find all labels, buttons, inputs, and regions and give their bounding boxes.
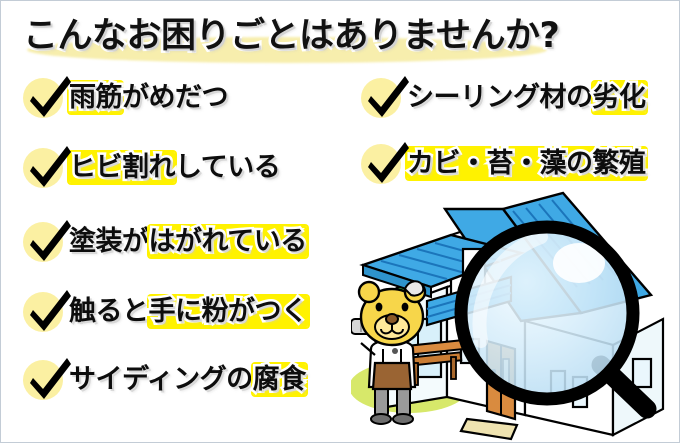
- checklist-item-6-text: シーリング材の劣化: [407, 76, 646, 120]
- highlighted-phrase: 雨筋: [69, 82, 122, 113]
- checklist-item-2: ヒビ割れしている: [23, 145, 280, 191]
- checklist-item-4-text: 触ると手に粉がつく: [69, 290, 308, 334]
- checkmark-icon: [30, 74, 72, 118]
- checkmark-icon: [30, 218, 72, 262]
- checklist-item-3-text: 塗装がはがれている: [69, 220, 307, 264]
- highlighted-phrase: はがれている: [149, 226, 307, 257]
- entrance-step: [461, 419, 517, 439]
- checklist-item-7: カビ・苔・藻の繁殖: [361, 141, 646, 187]
- checkmark-icon: [30, 288, 72, 332]
- checkmark-icon: [368, 140, 410, 184]
- checkmark-icon: [30, 144, 72, 188]
- plain-phrase: 塗装が: [69, 226, 149, 257]
- house-inspection-illustration: [351, 191, 679, 443]
- check-circle-icon: [23, 220, 67, 264]
- check-circle-icon: [23, 358, 67, 402]
- checklist-item-2-text: ヒビ割れしている: [69, 146, 280, 190]
- page-title-text: こんなお困りごとはありませんか?: [23, 11, 559, 61]
- checklist-item-5: サイディングの腐食: [23, 357, 306, 403]
- check-circle-icon: [23, 146, 67, 190]
- check-circle-icon: [361, 142, 405, 186]
- plain-phrase: している: [175, 152, 280, 183]
- checklist-item-5-text: サイディングの腐食: [69, 358, 306, 402]
- check-circle-icon: [23, 290, 67, 334]
- highlighted-phrase: 手に粉がつく: [149, 296, 308, 327]
- checkmark-icon: [368, 74, 410, 118]
- checklist-item-6: シーリング材の劣化: [361, 75, 646, 121]
- page-title: こんなお困りごとはありませんか?: [23, 11, 583, 63]
- plain-phrase: 触ると: [69, 296, 149, 327]
- highlighted-phrase: カビ・苔・藻の繁殖: [407, 148, 646, 179]
- window-side-right: [633, 359, 651, 387]
- checkmark-icon: [30, 356, 72, 400]
- plain-phrase: がめだつ: [122, 82, 228, 113]
- checklist-item-4: 触ると手に粉がつく: [23, 289, 308, 335]
- poster-canvas: こんなお困りごとはありませんか? 雨筋がめだつ ヒビ割れしている: [0, 0, 680, 443]
- checklist-item-3: 塗装がはがれている: [23, 219, 307, 265]
- check-circle-icon: [361, 76, 405, 120]
- plain-phrase: サイディングの: [69, 364, 253, 395]
- check-circle-icon: [23, 76, 67, 120]
- checklist-item-1: 雨筋がめだつ: [23, 75, 228, 121]
- checklist-item-7-text: カビ・苔・藻の繁殖: [407, 142, 646, 186]
- plain-phrase: シーリング材の: [407, 82, 593, 113]
- highlighted-phrase: 腐食: [253, 364, 306, 395]
- highlighted-phrase: ヒビ割れ: [69, 152, 175, 183]
- magnifying-glass-icon: [461, 227, 647, 409]
- checklist-item-1-text: 雨筋がめだつ: [69, 76, 228, 120]
- highlighted-phrase: 劣化: [593, 82, 646, 113]
